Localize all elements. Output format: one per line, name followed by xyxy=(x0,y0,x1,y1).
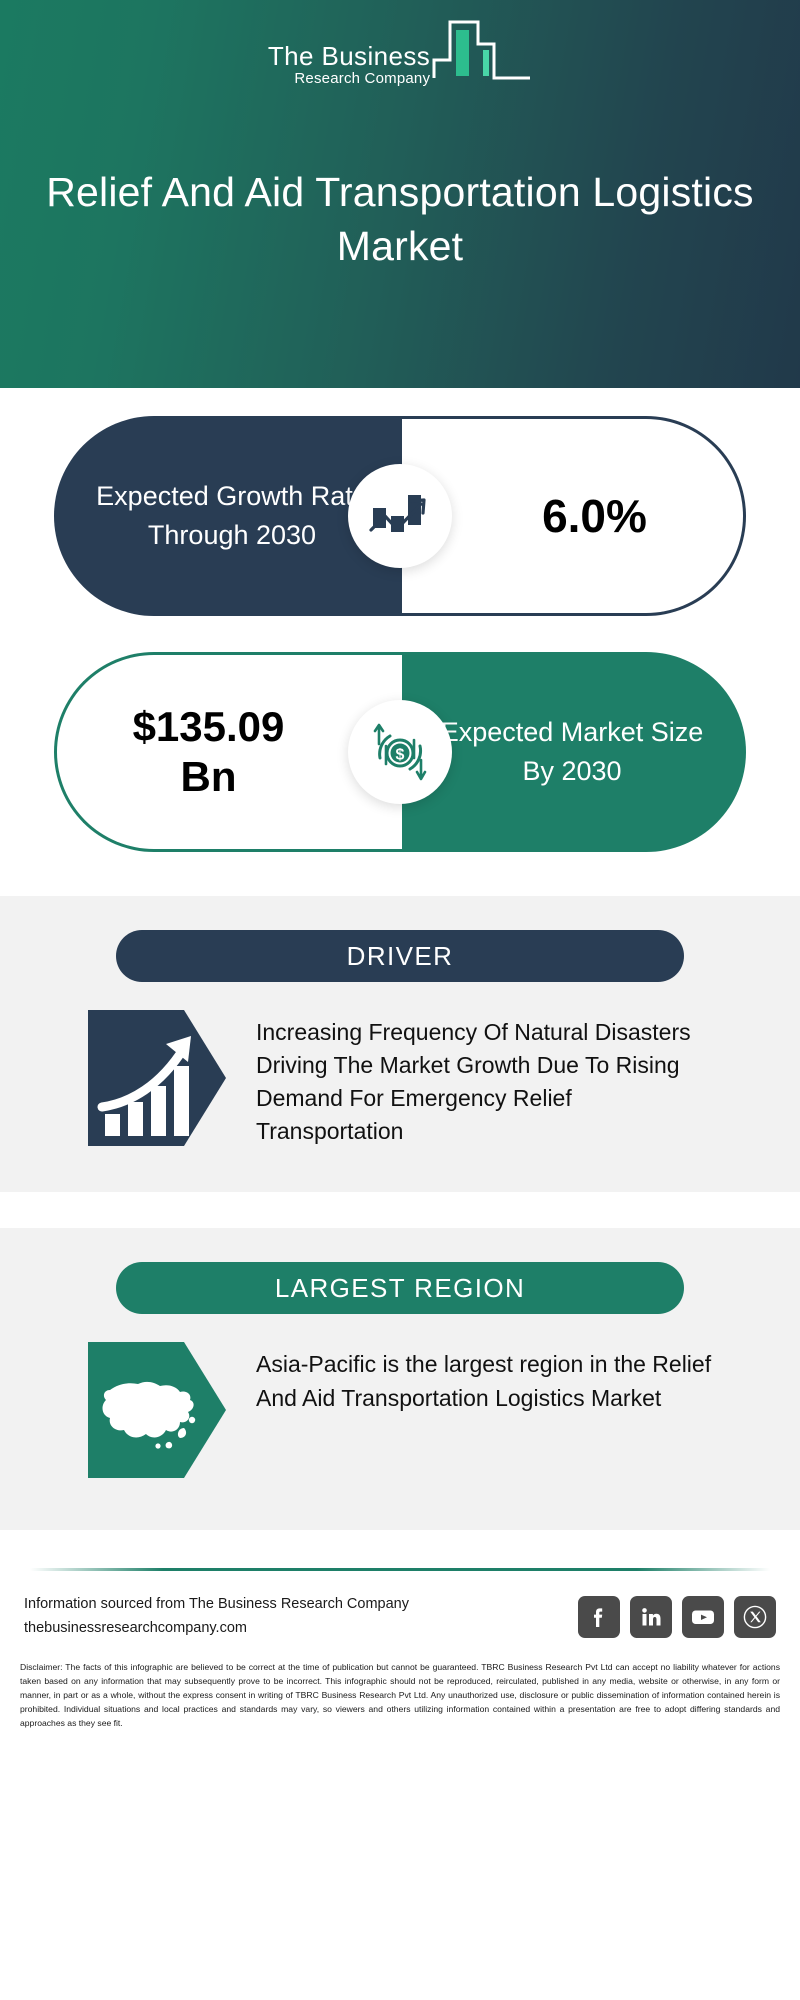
footer: Information sourced from The Business Re… xyxy=(24,1593,776,1641)
dollar-cycle-icon: $ xyxy=(348,700,452,804)
growth-rate-card: Expected Growth Rate Through 2030 6.0% xyxy=(54,416,746,616)
disclaimer-text: Disclaimer: The facts of this infographi… xyxy=(20,1661,780,1731)
growth-chart-arrow-icon xyxy=(348,464,452,568)
growth-rate-value: 6.0% xyxy=(402,416,746,616)
bar-chart-logo-mark-icon xyxy=(432,16,532,91)
market-size-value-line2: Bn xyxy=(133,752,285,802)
driver-text: Increasing Frequency Of Natural Disaster… xyxy=(226,1010,720,1148)
social-links xyxy=(578,1596,776,1638)
driver-heading: DRIVER xyxy=(116,930,684,982)
largest-region-heading: LARGEST REGION xyxy=(116,1262,684,1314)
page-title: Relief And Aid Transportation Logistics … xyxy=(0,165,800,273)
facebook-icon[interactable] xyxy=(578,1596,620,1638)
youtube-icon[interactable] xyxy=(682,1596,724,1638)
market-size-label: Expected Market Size By 2030 xyxy=(402,652,746,852)
market-size-card: $135.09 Bn Expected Market Size By 2030 … xyxy=(54,652,746,852)
company-logo: The Business Research Company xyxy=(0,22,800,94)
largest-region-section: LARGEST REGION Asia-Pacific is the large… xyxy=(0,1228,800,1530)
asia-map-icon xyxy=(88,1342,226,1478)
driver-content: Increasing Frequency Of Natural Disaster… xyxy=(80,1010,720,1148)
source-line-1: Information sourced from The Business Re… xyxy=(24,1593,409,1617)
logo-secondary-text: Research Company xyxy=(268,70,430,88)
logo-primary-text: The Business xyxy=(268,43,430,70)
largest-region-text: Asia-Pacific is the largest region in th… xyxy=(226,1342,720,1414)
market-size-value-line1: $135.09 xyxy=(133,702,285,752)
linkedin-icon[interactable] xyxy=(630,1596,672,1638)
svg-text:$: $ xyxy=(396,747,405,764)
header-banner: The Business Research Company Relief And… xyxy=(0,0,800,388)
rising-bar-chart-arrow-icon xyxy=(88,1010,226,1146)
driver-section: DRIVER Increasing Frequency Of Natural D… xyxy=(0,896,800,1192)
source-website[interactable]: thebusinessresearchcompany.com xyxy=(24,1617,409,1641)
x-twitter-icon[interactable] xyxy=(734,1596,776,1638)
infographic-page: The Business Research Company Relief And… xyxy=(0,0,800,2000)
source-attribution: Information sourced from The Business Re… xyxy=(24,1593,409,1641)
largest-region-content: Asia-Pacific is the largest region in th… xyxy=(80,1342,720,1478)
market-size-stat-row: $135.09 Bn Expected Market Size By 2030 … xyxy=(0,652,800,852)
growth-rate-stat-row: Expected Growth Rate Through 2030 6.0% xyxy=(0,416,800,616)
footer-divider xyxy=(30,1568,770,1571)
